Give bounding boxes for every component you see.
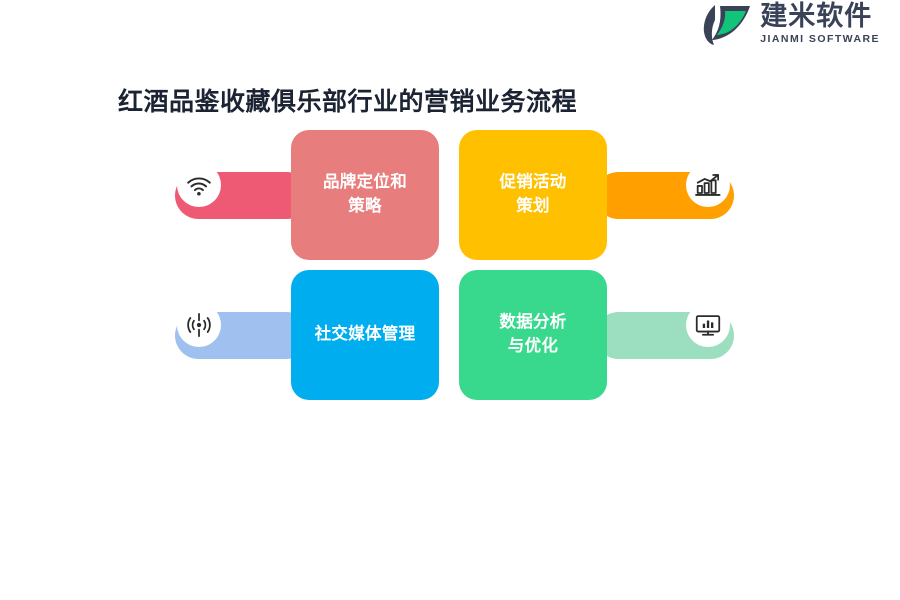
jianmi-logo-icon [702,2,752,46]
flow-card-brand-positioning[interactable]: 品牌定位和 策略 [291,130,439,260]
flow-card-label: 品牌定位和 策略 [323,171,407,219]
bar-chart-growth-icon [686,163,730,207]
monitor-analytics-icon [686,303,730,347]
page-title: 红酒品鉴收藏俱乐部行业的营销业务流程 [118,82,577,118]
flow-card-label: 促销活动 策划 [499,171,566,219]
process-flow-diagram: 品牌定位和 策略 促销活动 策划 [0,125,900,410]
flow-card-data-analysis[interactable]: 数据分析 与优化 [459,270,607,400]
wifi-signal-icon [177,163,221,207]
flow-card-label-line1: 数据分析 [499,313,566,331]
flow-card-label-line2: 策划 [516,197,550,215]
brand-logo: 建米软件 JIANMI SOFTWARE [702,2,880,46]
brand-subtitle: JIANMI SOFTWARE [760,34,880,45]
flow-card-label-line2: 策略 [348,197,382,215]
flow-card-label: 数据分析 与优化 [499,311,566,359]
flow-row-1: 品牌定位和 策略 促销活动 策划 [0,125,900,265]
flow-card-label-line1: 品牌定位和 [323,173,407,191]
flow-card-social-media-management[interactable]: 社交媒体管理 [291,270,439,400]
flow-card-label-line2: 与优化 [508,337,558,355]
flow-card-label-line1: 促销活动 [499,173,566,191]
flow-card-promotion-planning[interactable]: 促销活动 策划 [459,130,607,260]
flow-card-label: 社交媒体管理 [315,323,416,347]
broadcast-antenna-icon [177,303,221,347]
brand-text: 建米软件 JIANMI SOFTWARE [760,3,880,45]
brand-name: 建米软件 [760,3,880,30]
flow-row-2: 社交媒体管理 数据分析 与优化 [0,265,900,405]
